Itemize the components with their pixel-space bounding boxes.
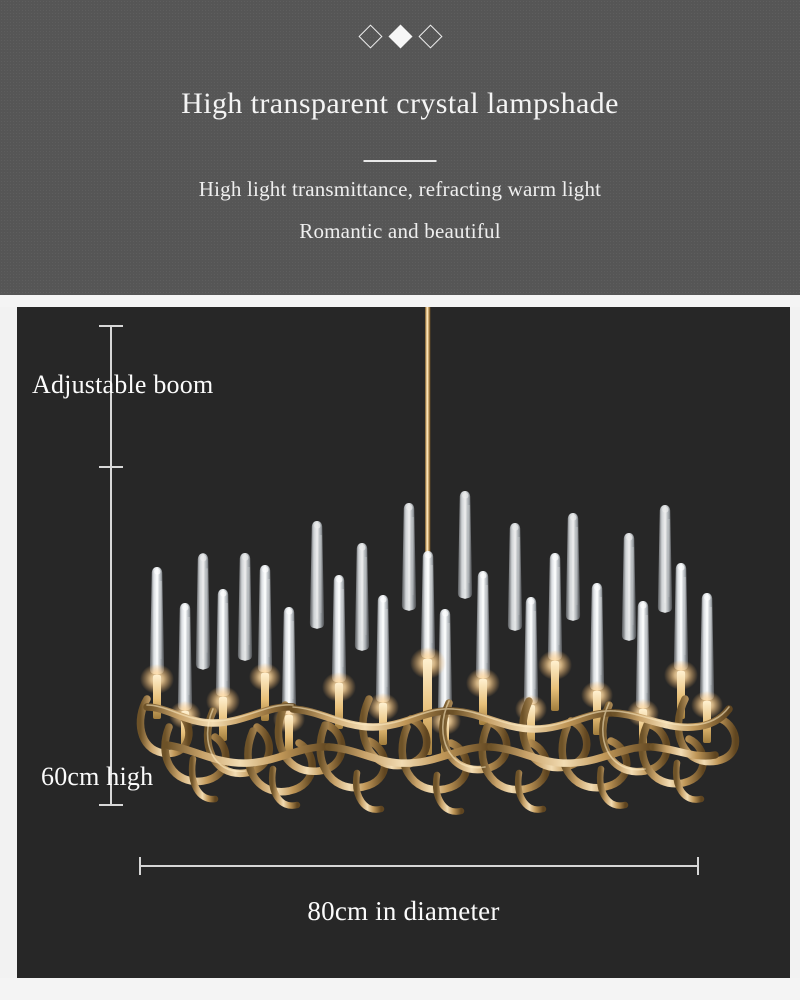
horizontal-dimension-cap-left [139, 857, 141, 875]
product-photo: Adjustable boom 60cm high 80cm in diamet… [17, 307, 790, 978]
headline-divider [364, 160, 437, 162]
diamond-filled-icon [388, 24, 412, 48]
diamond-outline-left-icon [358, 24, 382, 48]
product-detail-page: High transparent crystal lampshade High … [0, 0, 800, 1000]
vertical-dimension-cap-top [99, 325, 123, 327]
vertical-dimension-cap-bottom [99, 804, 123, 806]
chandelier-illustration [17, 307, 790, 978]
subtitle-line-1: High light transmittance, refracting war… [0, 177, 800, 202]
adjustable-boom-label: Adjustable boom [32, 370, 213, 400]
height-label: 60cm high [41, 762, 153, 792]
diamond-ornament-row [0, 28, 800, 45]
headline-text: High transparent crystal lampshade [0, 85, 800, 123]
diameter-label: 80cm in diameter [17, 896, 790, 927]
diamond-outline-right-icon [418, 24, 442, 48]
horizontal-dimension-cap-right [697, 857, 699, 875]
header-banner: High transparent crystal lampshade High … [0, 0, 800, 295]
banner-photo-gap [0, 295, 800, 307]
photo-bottom-margin [0, 978, 800, 1000]
vertical-dimension-cap-middle [99, 466, 123, 468]
subtitle-line-2: Romantic and beautiful [0, 219, 800, 244]
horizontal-dimension-line [139, 865, 698, 867]
